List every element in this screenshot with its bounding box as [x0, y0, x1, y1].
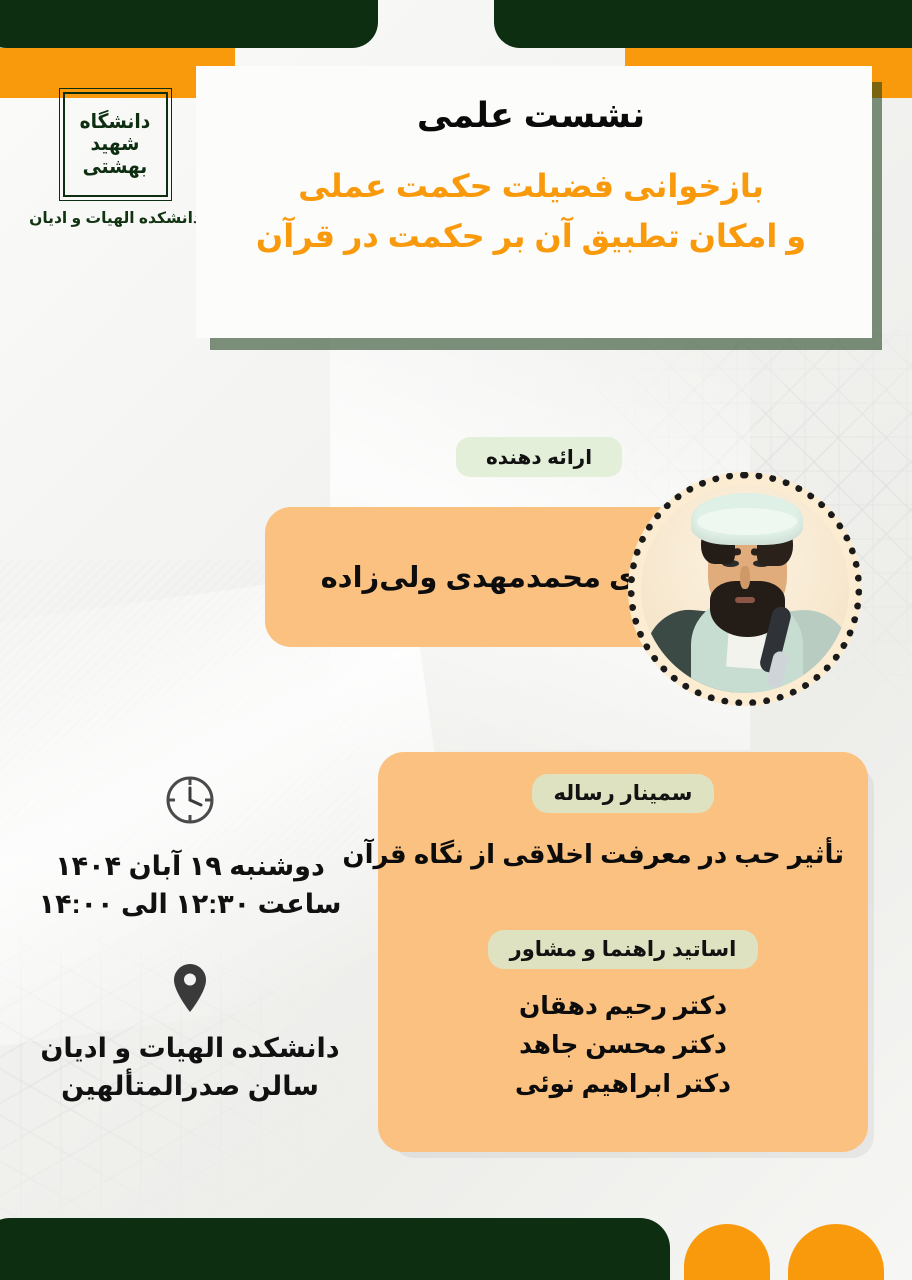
map-pin-icon — [20, 962, 360, 1019]
logo-word-2: شهید — [80, 133, 151, 155]
venue-icon-row — [20, 962, 360, 1019]
advisors-chip: اساتید راهنما و مشاور — [488, 930, 759, 969]
presenter-card: آقای محمدمهدی ولی‌زاده — [265, 507, 685, 647]
seminar-title: تأثیر حب در معرفت اخلاقی از نگاه قرآن — [402, 839, 844, 870]
clock-icon — [20, 772, 360, 833]
presenter-label: ارائه دهنده — [456, 437, 622, 477]
seminar-panel: سمینار رساله تأثیر حب در معرفت اخلاقی از… — [378, 752, 868, 1152]
event-details-column: دوشنبه ۱۹ آبان ۱۴۰۴ ساعت ۱۲:۳۰ الی ۱۴:۰۰… — [20, 772, 360, 1105]
venue-line-2: سالن صدرالمتألهین — [20, 1067, 360, 1105]
event-poster: دانشگاه شهید بهشتی دانشکده الهیات و ادیا… — [0, 0, 912, 1280]
event-type-label: نشست علمی — [230, 96, 832, 136]
page-title-line-2: و امکان تطبیق آن بر حکمت در قرآن — [230, 212, 832, 262]
advisor-item: دکتر رحیم دهقان — [402, 987, 844, 1026]
venue-line-1: دانشکده الهیات و ادیان — [20, 1029, 360, 1067]
top-bar-green-left — [0, 0, 378, 48]
event-time: ساعت ۱۲:۳۰ الی ۱۴:۰۰ — [20, 885, 360, 923]
event-date: دوشنبه ۱۹ آبان ۱۴۰۴ — [20, 847, 360, 885]
presenter-avatar — [628, 472, 862, 706]
title-card: نشست علمی بازخوانی فضیلت حکمت عملی و امک… — [196, 66, 872, 338]
logo-word-3: بهشتی — [80, 156, 151, 178]
advisors-chip-row: اساتید راهنما و مشاور — [402, 930, 844, 969]
logo-caption: دانشکده الهیات و ادیان — [20, 209, 210, 228]
logo-wordmark: دانشگاه شهید بهشتی — [80, 111, 151, 178]
logo-frame: دانشگاه شهید بهشتی — [63, 92, 168, 197]
advisor-item: دکتر ابراهیم نوئی — [402, 1065, 844, 1104]
advisor-item: دکتر محسن جاهد — [402, 1026, 844, 1065]
page-title-line-1: بازخوانی فضیلت حکمت عملی — [230, 162, 832, 212]
venue-block: دانشکده الهیات و ادیان سالن صدرالمتألهین — [20, 1029, 360, 1106]
university-logo: دانشگاه شهید بهشتی دانشکده الهیات و ادیا… — [20, 92, 210, 228]
top-bar-green-right — [494, 0, 912, 48]
presenter-name: آقای محمدمهدی ولی‌زاده — [321, 560, 676, 595]
schedule-block: دوشنبه ۱۹ آبان ۱۴۰۴ ساعت ۱۲:۳۰ الی ۱۴:۰۰ — [20, 847, 360, 924]
logo-word-1: دانشگاه — [80, 111, 151, 133]
avatar-photo — [641, 485, 849, 693]
bottom-bar-green — [0, 1218, 670, 1280]
advisor-list: دکتر رحیم دهقان دکتر محسن جاهد دکتر ابرا… — [402, 987, 844, 1104]
seminar-chip: سمینار رساله — [532, 774, 715, 813]
